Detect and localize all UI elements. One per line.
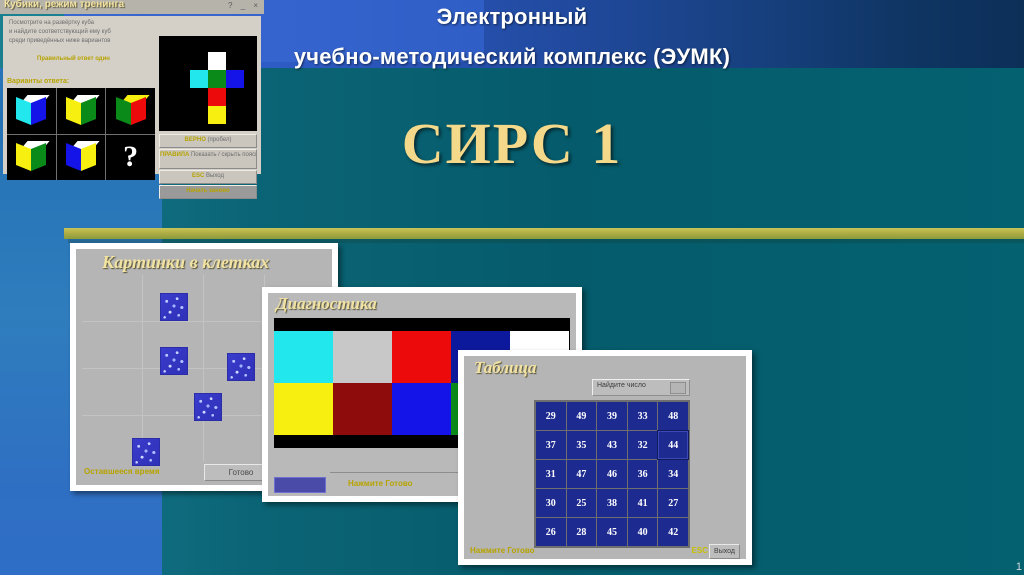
cube-face	[31, 97, 46, 125]
table-cell[interactable]: 32	[628, 431, 658, 459]
table-cell[interactable]: 47	[567, 460, 597, 488]
cubes-exit-button[interactable]: ESC Выход	[159, 170, 257, 184]
page-number: 1	[1016, 561, 1022, 573]
table-cell[interactable]: 39	[597, 402, 627, 430]
table-prompt-label: Найдите число	[597, 382, 646, 389]
table-cell[interactable]: 38	[597, 489, 627, 517]
cubes-body: Посмотрите на развёртку куба и найдите с…	[3, 16, 261, 174]
diagnostics-color-cell[interactable]	[274, 383, 333, 435]
table-cell[interactable]: 26	[536, 518, 566, 546]
cubes-info-line-2: и найдите соответствующий ему куб	[9, 29, 111, 35]
table-cell[interactable]: 44	[658, 431, 688, 459]
table-cell[interactable]: 41	[628, 489, 658, 517]
cube-option-cube-3[interactable]	[106, 88, 155, 134]
picture-cell-5[interactable]	[132, 438, 160, 466]
table-exit-button[interactable]: Выход	[709, 544, 740, 559]
diagnostics-status-text: Нажмите Готово	[348, 479, 413, 488]
pattern-square	[208, 88, 226, 106]
window-table[interactable]: Таблица Найдите число 294939334837354332…	[458, 350, 752, 565]
table-cell[interactable]: 31	[536, 460, 566, 488]
cubes-info-line-3: среди приведённых ниже вариантов	[9, 38, 110, 44]
window-controls-icon[interactable]: ? _ ×	[228, 1, 261, 10]
cubes-restart-button[interactable]: Начать заново	[159, 185, 257, 199]
table-cell[interactable]: 25	[567, 489, 597, 517]
diagnostics-color-cell[interactable]	[333, 331, 392, 383]
cube-face	[16, 143, 31, 171]
window-cubes-training[interactable]: Кубики, режим тренинга ? _ × Посмотрите …	[0, 0, 264, 177]
picture-cell-4[interactable]	[194, 393, 222, 421]
cube-face	[81, 143, 96, 171]
diagnostics-color-cell[interactable]	[392, 383, 451, 435]
table-cell[interactable]: 36	[628, 460, 658, 488]
picture-cell-3[interactable]	[227, 353, 255, 381]
cube-face	[31, 143, 46, 171]
diagnostics-color-cell[interactable]	[392, 331, 451, 383]
pattern-square	[226, 70, 244, 88]
cube-icon	[115, 95, 147, 127]
table-cell[interactable]: 27	[658, 489, 688, 517]
cubes-hint-line: Правильный ответ один	[37, 56, 110, 62]
cube-face	[66, 143, 81, 171]
diagnostics-color-cell[interactable]	[274, 331, 333, 383]
window-diagnostics-title: Диагностика	[276, 294, 377, 314]
table-cell[interactable]: 40	[628, 518, 658, 546]
table-cell[interactable]: 48	[658, 402, 688, 430]
table-cell[interactable]: 45	[597, 518, 627, 546]
window-cubes-title: Кубики, режим тренинга	[4, 0, 124, 10]
table-cell[interactable]: 46	[597, 460, 627, 488]
table-number-grid[interactable]: 2949393348373543324431474636343025384127…	[534, 400, 690, 548]
table-find-number-prompt[interactable]: Найдите число	[592, 379, 690, 396]
cube-option-cube-2[interactable]	[57, 88, 106, 134]
table-cell[interactable]: 34	[658, 460, 688, 488]
cubes-rules-button[interactable]: ПРАВИЛА Показать / скрыть пояснения	[159, 149, 257, 169]
picture-cell-2[interactable]	[160, 347, 188, 375]
cubes-info-line-1: Посмотрите на развёртку куба	[9, 20, 94, 26]
table-exit-hint: ESC	[692, 546, 708, 555]
table-cell[interactable]: 28	[567, 518, 597, 546]
picture-cell-1[interactable]	[160, 293, 188, 321]
pictures-status-text: Оставшееся время	[84, 467, 160, 476]
table-cell[interactable]: 35	[567, 431, 597, 459]
table-cell[interactable]: 33	[628, 402, 658, 430]
cubes-options-label: Варианты ответа:	[7, 78, 69, 85]
cube-option-cube-4[interactable]	[7, 135, 56, 181]
cube-icon	[65, 141, 97, 173]
question-mark-icon: ?	[123, 140, 138, 174]
cube-icon	[15, 141, 47, 173]
table-cell[interactable]: 37	[536, 431, 566, 459]
cube-face	[81, 97, 96, 125]
window-table-title: Таблица	[474, 358, 536, 378]
window-table-body: Таблица Найдите число 294939334837354332…	[464, 356, 746, 559]
pattern-square	[208, 52, 226, 70]
cube-option-cube-1[interactable]	[7, 88, 56, 134]
cubes-option-grid[interactable]: ?	[7, 88, 155, 180]
table-cell[interactable]: 49	[567, 402, 597, 430]
window-pictures-title: Картинки в клетках	[102, 252, 269, 273]
table-status-text: Нажмите Готово	[470, 546, 535, 555]
pattern-square	[208, 106, 226, 124]
diagnostics-color-swatch[interactable]	[274, 477, 326, 493]
table-cell[interactable]: 43	[597, 431, 627, 459]
cubes-titlebar[interactable]: Кубики, режим тренинга ? _ ×	[0, 0, 264, 14]
cube-face	[131, 97, 146, 125]
table-cell[interactable]: 42	[658, 518, 688, 546]
cube-option-cube-5[interactable]	[57, 135, 106, 181]
pattern-square	[190, 70, 208, 88]
cube-option-cube-6[interactable]: ?	[106, 135, 155, 181]
cube-icon	[65, 95, 97, 127]
table-cell[interactable]: 30	[536, 489, 566, 517]
table-prompt-value	[670, 382, 686, 394]
gold-divider-rule	[64, 228, 1024, 239]
cubes-confirm-button[interactable]: ВЕРНО (пробел)	[159, 134, 257, 148]
cubes-unfolded-pattern	[159, 36, 257, 131]
table-cell[interactable]: 29	[536, 402, 566, 430]
table-footer: Нажмите Готово ESC Выход	[468, 544, 744, 558]
pattern-square	[208, 70, 226, 88]
cube-icon	[15, 95, 47, 127]
diagnostics-color-cell[interactable]	[333, 383, 392, 435]
